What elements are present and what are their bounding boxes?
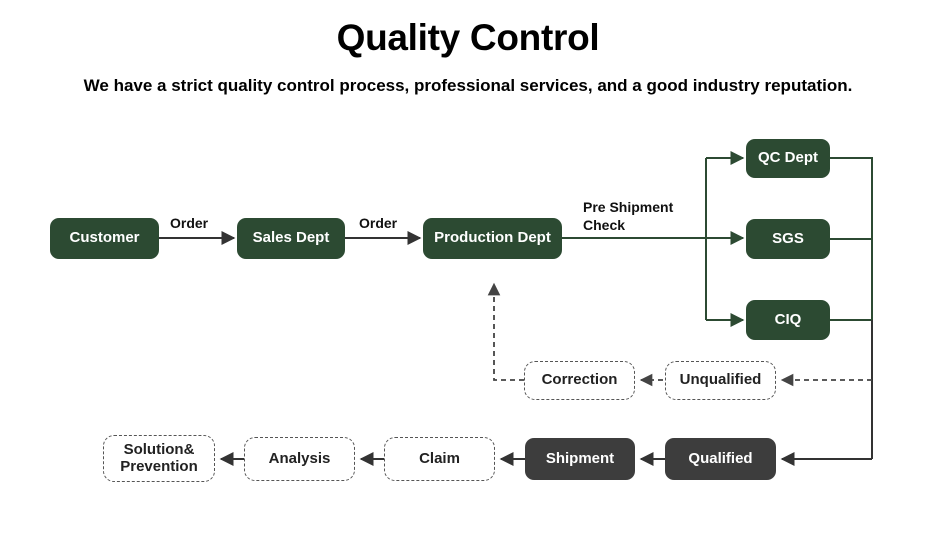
node-production-dept[interactable]: Production Dept xyxy=(423,218,562,259)
edge-label-pre-shipment-check: Pre Shipment Check xyxy=(583,199,673,234)
node-qc-dept[interactable]: QC Dept xyxy=(746,139,830,178)
node-sales-dept[interactable]: Sales Dept xyxy=(237,218,345,259)
node-analysis[interactable]: Analysis xyxy=(244,437,355,481)
node-sgs[interactable]: SGS xyxy=(746,219,830,259)
quality-control-diagram: Quality Control We have a strict quality… xyxy=(0,0,936,540)
edge-label-order-1: Order xyxy=(170,215,208,233)
node-correction[interactable]: Correction xyxy=(524,361,635,400)
edge-label-order-2: Order xyxy=(359,215,397,233)
node-unqualified[interactable]: Unqualified xyxy=(665,361,776,400)
node-shipment[interactable]: Shipment xyxy=(525,438,635,480)
node-ciq[interactable]: CIQ xyxy=(746,300,830,340)
node-solution-prevention[interactable]: Solution& Prevention xyxy=(103,435,215,482)
edge-correction-production xyxy=(494,284,524,380)
node-claim[interactable]: Claim xyxy=(384,437,495,481)
node-qualified[interactable]: Qualified xyxy=(665,438,776,480)
node-customer[interactable]: Customer xyxy=(50,218,159,259)
